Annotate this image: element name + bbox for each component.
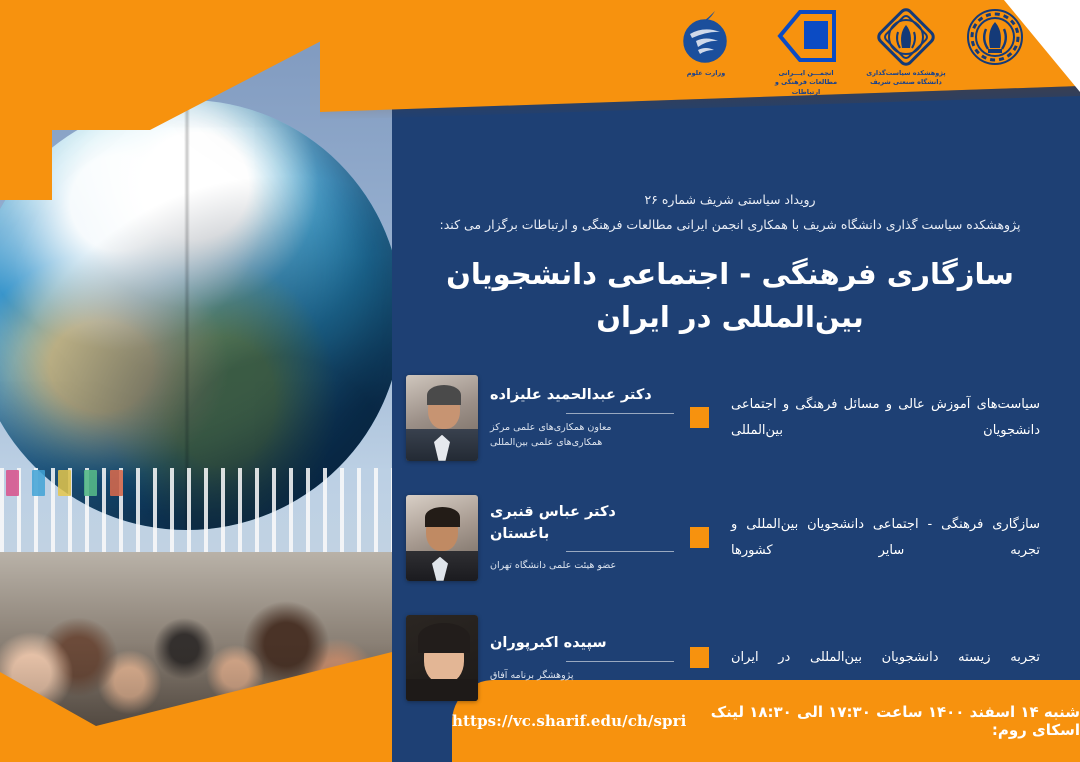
ministry-of-science-globe-logo: وزارت علوم xyxy=(664,8,748,78)
event-poster: وزارت علوم انجمـــن ایـــرانی مطالعات فر… xyxy=(0,0,1080,762)
logo-row: وزارت علوم انجمـــن ایـــرانی مطالعات فر… xyxy=(664,8,1026,97)
sharif-policy-research-institute-logo: پژوهشکده سیاست‌گذاری دانشگاه صنعتی شریف xyxy=(864,8,948,88)
logo-caption: پژوهشکده سیاست‌گذاری دانشگاه صنعتی شریف xyxy=(866,69,946,88)
speaker-block: دکتر عباس قنبری باغستان عضو هیئت علمی دا… xyxy=(406,495,674,581)
speaker-photo xyxy=(406,375,478,461)
orange-square-bullet-icon xyxy=(690,647,709,668)
speaker-photo xyxy=(406,495,478,581)
event-datetime: شنبه ۱۴ اسفند ۱۴۰۰ ساعت ۱۷:۳۰ الی ۱۸:۳۰ … xyxy=(692,703,1080,739)
poster-content: رویداد سیاستی شریف شماره ۲۶ پژوهشکده سیا… xyxy=(380,120,1080,726)
event-datetime-and-link: شنبه ۱۴ اسفند ۱۴۰۰ ساعت ۱۷:۳۰ الی ۱۸:۳۰ … xyxy=(452,680,1080,762)
session-list: سیاست‌های آموزش عالی و مسائل فرهنگی و اج… xyxy=(380,366,1080,710)
globe-logo-icon xyxy=(678,8,734,66)
speaker-role-line-1: معاون همکاری‌های علمی مرکز xyxy=(490,420,674,435)
policy-institute-logo-icon xyxy=(877,8,935,66)
speaker-info: سپیده اکبرپوران پژوهشگر برنامه آفاق xyxy=(490,633,674,683)
speaker-name: سپیده اکبرپوران xyxy=(490,633,674,655)
orange-square-bullet-icon xyxy=(690,527,709,548)
iranian-cultural-studies-association-logo: انجمـــن ایـــرانی مطالعات فرهنگی و ارتب… xyxy=(764,8,848,97)
session-row: سازگاری فرهنگی - اجتماعی دانشجویان بین‌ا… xyxy=(406,486,1040,590)
session-row: سیاست‌های آموزش عالی و مسائل فرهنگی و اج… xyxy=(406,366,1040,470)
sharif-university-of-technology-logo xyxy=(964,8,1026,69)
session-topic: سیاست‌های آموزش عالی و مسائل فرهنگی و اج… xyxy=(725,392,1040,444)
speaker-block: دکتر عبدالحمید علیزاده معاون همکاری‌های … xyxy=(406,375,674,461)
speaker-role-line-2: همکاری‌های علمی بین‌المللی xyxy=(490,435,674,450)
globe-shadow xyxy=(0,100,392,530)
logo-caption: انجمـــن ایـــرانی مطالعات فرهنگی و ارتب… xyxy=(764,69,848,97)
speaker-name: دکتر عبدالحمید علیزاده xyxy=(490,385,674,407)
organizer-line: پژوهشکده سیاست گذاری دانشگاه شریف با همک… xyxy=(380,216,1080,235)
session-topic: تجربه زیسته دانشجویان بین‌المللی در ایرا… xyxy=(725,645,1040,671)
sharif-university-logo-icon xyxy=(966,8,1024,66)
divider xyxy=(566,661,674,662)
orange-square-bullet-icon xyxy=(690,407,709,428)
skyroom-link[interactable]: https://vc.sharif.edu/ch/spri xyxy=(452,712,686,730)
association-logo-icon xyxy=(774,8,838,66)
logo-caption: وزارت علوم xyxy=(687,69,725,78)
speaker-role-line-1: عضو هیئت علمی دانشگاه تهران xyxy=(490,558,674,573)
speaker-name: دکتر عباس قنبری باغستان xyxy=(490,502,674,546)
speaker-info: دکتر عبدالحمید علیزاده معاون همکاری‌های … xyxy=(490,385,674,450)
divider xyxy=(566,551,674,552)
event-number-label: رویداد سیاستی شریف شماره ۲۶ xyxy=(380,192,1080,207)
page-title: سازگاری فرهنگی - اجتماعی دانشجویان بین‌ا… xyxy=(380,253,1080,340)
session-topic: سازگاری فرهنگی - اجتماعی دانشجویان بین‌ا… xyxy=(725,512,1040,564)
divider xyxy=(566,413,674,414)
speaker-info: دکتر عباس قنبری باغستان عضو هیئت علمی دا… xyxy=(490,502,674,574)
